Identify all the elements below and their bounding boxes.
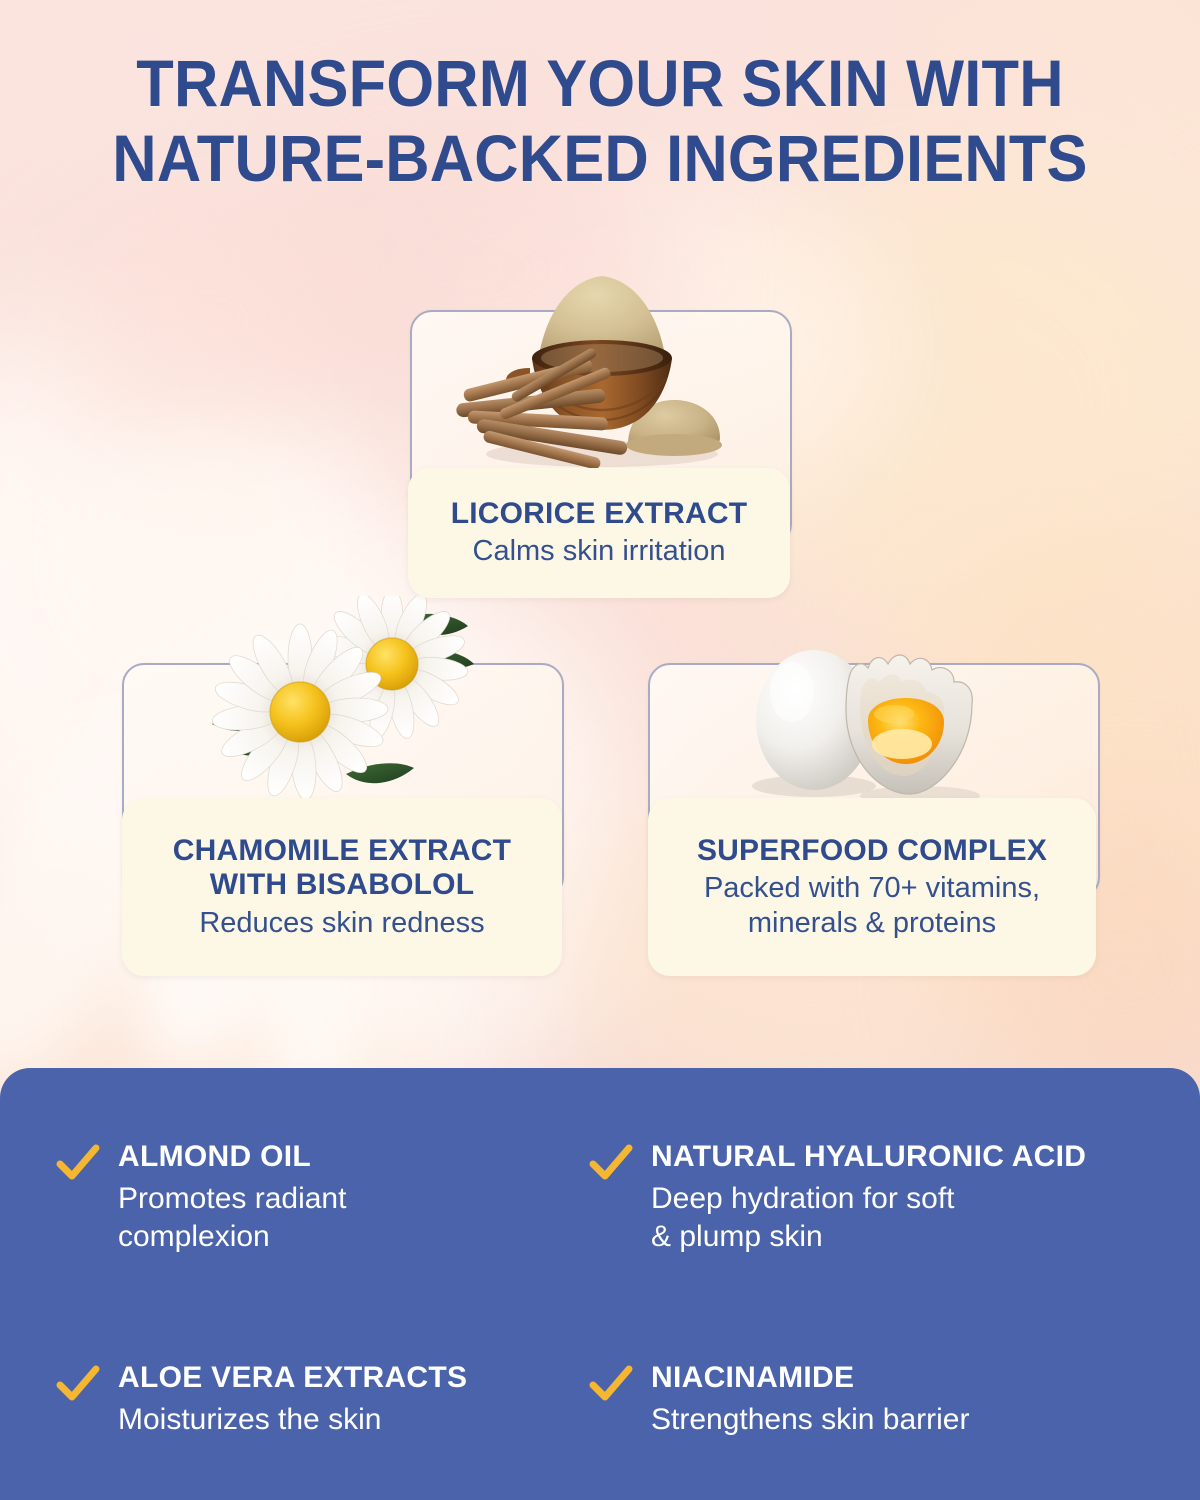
benefit-desc-almond-oil-line-1: Promotes radiant [118,1180,346,1218]
benefit-title-niacinamide: NIACINAMIDE [651,1361,970,1396]
benefit-desc-niacinamide-line-1: Strengthens skin barrier [651,1401,970,1439]
benefit-desc-aloe-vera-line-1: Moisturizes the skin [118,1401,467,1439]
card-label-licorice: LICORICE EXTRACT Calms skin irritation [408,468,790,598]
benefit-desc-almond-oil-line-2: complexion [118,1218,346,1256]
benefits-panel: ALMOND OIL Promotes radiant complexion N… [0,1068,1200,1500]
benefit-item-hyaluronic-acid: NATURAL HYALURONIC ACID Deep hydration f… [589,1140,1200,1317]
card-title-chamomile-line-2: WITH BISABOLOL [122,868,562,902]
card-title-chamomile-line-1: CHAMOMILE EXTRACT [122,834,562,868]
card-title-licorice: LICORICE EXTRACT [408,497,790,531]
page-title: TRANSFORM YOUR SKIN WITH NATURE-BACKED I… [42,46,1158,196]
check-icon [56,1363,100,1407]
page-title-line-2: NATURE-BACKED INGREDIENTS [42,121,1158,196]
benefit-title-almond-oil: ALMOND OIL [118,1140,346,1175]
card-subtitle-chamomile: Reduces skin redness [122,906,562,940]
card-label-chamomile: CHAMOMILE EXTRACT WITH BISABOLOL Reduces… [122,798,562,976]
benefit-desc-hyaluronic-acid-line-1: Deep hydration for soft [651,1180,1086,1218]
card-subtitle-licorice: Calms skin irritation [408,534,790,568]
benefit-item-niacinamide: NIACINAMIDE Strengthens skin barrier [589,1361,1200,1500]
benefit-title-aloe-vera: ALOE VERA EXTRACTS [118,1361,467,1396]
check-icon [56,1142,100,1186]
benefit-title-hyaluronic-acid: NATURAL HYALURONIC ACID [651,1140,1086,1175]
check-icon [589,1363,633,1407]
card-subtitle-superfood-line-1: Packed with 70+ vitamins, [648,871,1096,905]
background-bokeh-blob [40,180,370,460]
page-title-line-1: TRANSFORM YOUR SKIN WITH [42,46,1158,121]
benefit-item-aloe-vera: ALOE VERA EXTRACTS Moisturizes the skin [56,1361,583,1500]
card-label-superfood: SUPERFOOD COMPLEX Packed with 70+ vitami… [648,798,1096,976]
benefit-item-almond-oil: ALMOND OIL Promotes radiant complexion [56,1140,583,1317]
benefit-desc-hyaluronic-acid-line-2: & plump skin [651,1218,1086,1256]
check-icon [589,1142,633,1186]
card-subtitle-superfood-line-2: minerals & proteins [648,906,1096,940]
card-title-superfood: SUPERFOOD COMPLEX [648,834,1096,868]
